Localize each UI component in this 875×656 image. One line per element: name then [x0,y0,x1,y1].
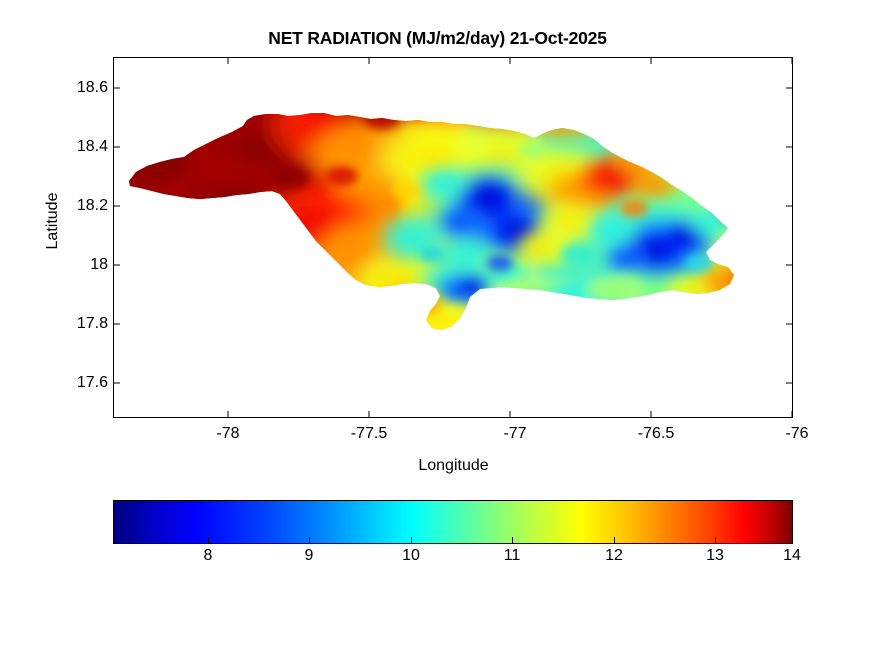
y-axis-title: Latitude [44,161,62,281]
radiation-heatmap [114,58,793,418]
colorbar-tick-label: 13 [685,547,745,565]
ytick-label: 18.4 [48,139,108,155]
colorbar-tick-label: 12 [584,547,644,565]
ytick-label: 17.8 [48,316,108,332]
colorbar-tick-label: 14 [762,547,822,565]
figure-canvas: NET RADIATION (MJ/m2/day) 21-Oct-2025 [0,0,875,656]
xtick-label: -78 [193,426,263,442]
colorbar-gradient [113,500,793,544]
colorbar-tick-label: 8 [178,547,238,565]
xtick-label: -76 [762,426,832,442]
colorbar-tick-label: 9 [279,547,339,565]
colorbar-tick-label: 11 [482,547,542,565]
xtick-label: -76.5 [621,426,691,442]
ytick-label: 18.6 [48,80,108,96]
xtick-label: -77.5 [334,426,404,442]
page-title: NET RADIATION (MJ/m2/day) 21-Oct-2025 [0,28,875,49]
map-axes [113,57,793,418]
xtick-label: -77 [480,426,550,442]
ytick-label: 17.6 [48,375,108,391]
colorbar[interactable]: 8 9 10 11 12 13 14 [113,500,793,544]
colorbar-tick-label: 10 [381,547,441,565]
x-axis-title: Longitude [0,457,875,475]
